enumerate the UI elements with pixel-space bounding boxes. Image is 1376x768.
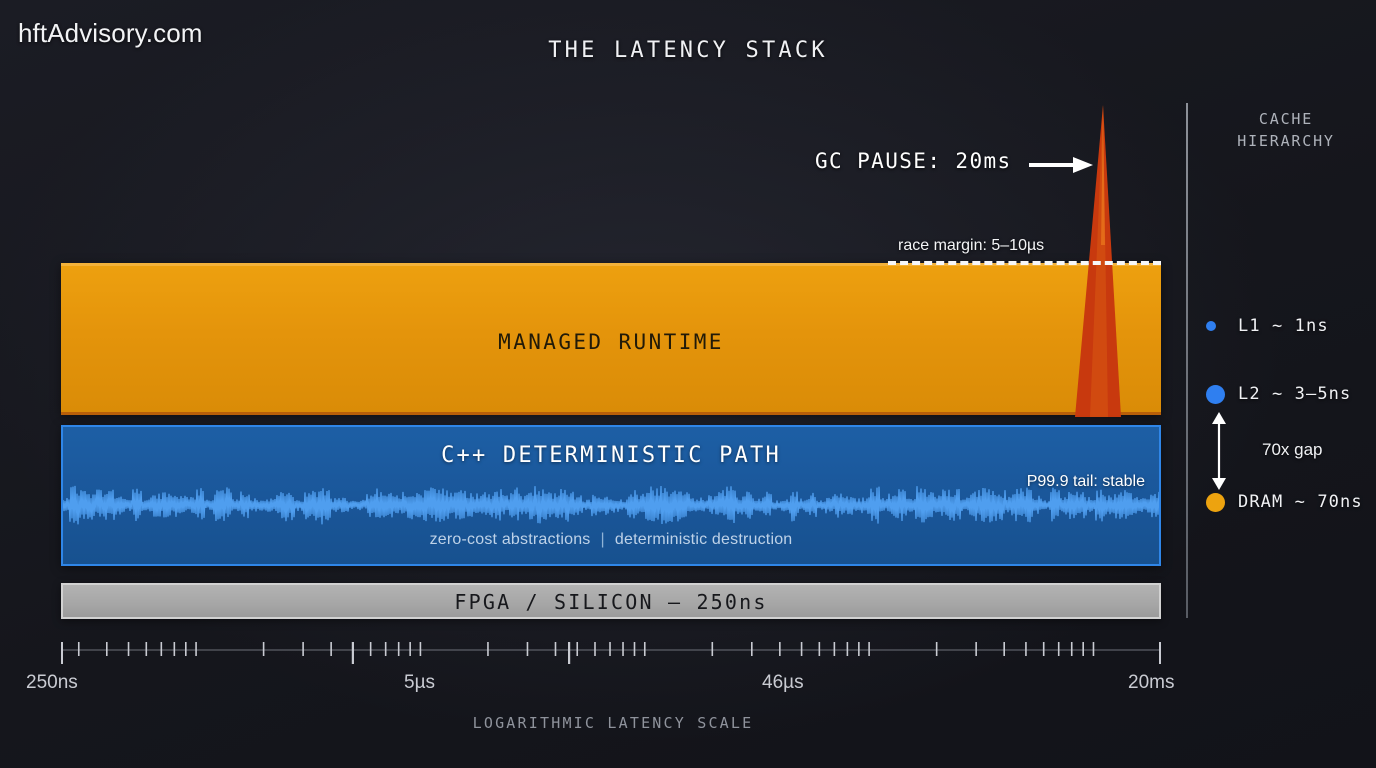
bar-managed-runtime-label: MANAGED RUNTIME [61, 330, 1161, 354]
cache-item-dram: DRAM ~ 70ns [1206, 492, 1363, 512]
bar-managed-runtime: MANAGED RUNTIME [61, 263, 1161, 415]
cache-item-l2: L2 ~ 3–5ns [1206, 384, 1351, 404]
cache-hierarchy-title-line2: HIERARCHY [1206, 130, 1366, 152]
bar-cpp-subtitle-left: zero-cost abstractions [430, 531, 591, 548]
cache-item-l1: L1 ~ 1ns [1206, 316, 1329, 336]
cache-dot-l1 [1206, 321, 1216, 331]
bar-cpp-subtitle-right: deterministic destruction [615, 531, 793, 548]
bar-cpp-label: C++ DETERMINISTIC PATH [63, 443, 1159, 468]
latency-stack-infographic: hftAdvisory.com THE LATENCY STACK GC PAU… [0, 0, 1376, 768]
axis-tick-label-1: 5µs [404, 672, 435, 694]
cache-hierarchy-title-line1: CACHE [1206, 108, 1366, 130]
cache-dot-l2 [1206, 385, 1225, 404]
race-margin-line [888, 261, 1161, 265]
axis-caption: LOGARITHMIC LATENCY SCALE [0, 714, 1226, 732]
latency-jitter-waveform [61, 483, 1161, 527]
gc-pause-annotation: GC PAUSE: 20ms [815, 149, 1012, 173]
cache-hierarchy-title: CACHE HIERARCHY [1206, 108, 1366, 152]
cache-gap-label: 70x gap [1262, 440, 1323, 460]
race-margin-label: race margin: 5–10µs [898, 237, 1044, 255]
axis-tick-label-2: 46µs [762, 672, 804, 694]
bar-fpga-silicon-label: FPGA / SILICON — 250ns [63, 590, 1159, 614]
bar-cpp-deterministic-path: C++ DETERMINISTIC PATH P99.9 tail: stabl… [61, 425, 1161, 566]
bar-cpp-subtitle: zero-cost abstractions|deterministic des… [63, 531, 1159, 549]
axis-tick-label-3: 20ms [1128, 672, 1174, 694]
axis-tick-label-0: 250ns [26, 672, 78, 694]
bar-cpp-subtitle-separator: | [591, 531, 615, 548]
page-title: THE LATENCY STACK [0, 38, 1376, 63]
panel-divider [1186, 103, 1188, 618]
cache-label-dram: DRAM ~ 70ns [1238, 492, 1363, 512]
latency-axis [61, 640, 1161, 666]
arrow-up-down-icon [1208, 412, 1230, 490]
cache-label-l2: L2 ~ 3–5ns [1238, 384, 1351, 404]
bar-fpga-silicon: FPGA / SILICON — 250ns [61, 583, 1161, 619]
cache-dot-dram [1206, 493, 1225, 512]
cache-label-l1: L1 ~ 1ns [1238, 316, 1329, 336]
